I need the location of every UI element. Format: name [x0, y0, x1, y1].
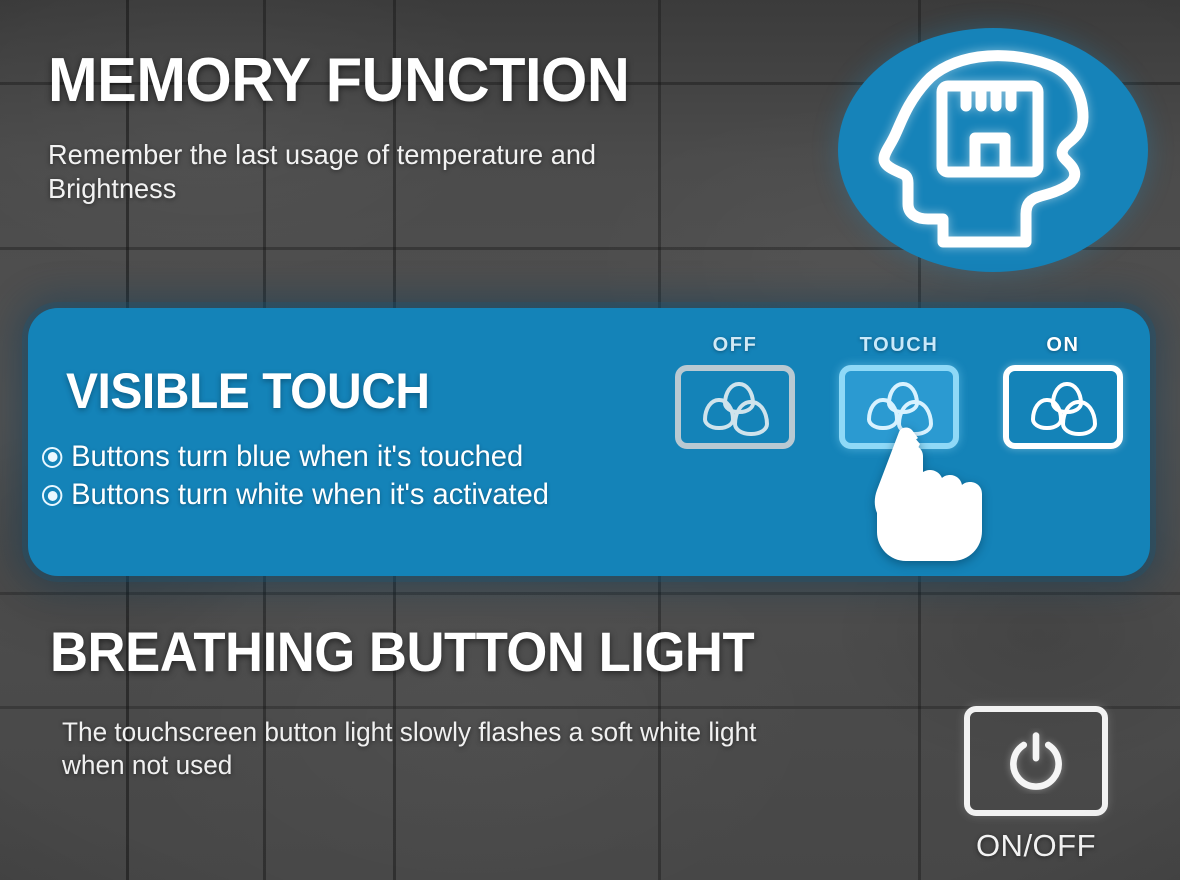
pointing-hand-cursor-icon	[868, 424, 1018, 574]
memory-function-title: MEMORY FUNCTION	[48, 50, 629, 112]
memory-description-text: Remember the last usage of temperature a…	[48, 139, 596, 204]
head-memory-icon	[838, 28, 1148, 272]
memory-function-description: Remember the last usage of temperature a…	[48, 138, 727, 206]
bullet-text: Buttons turn white when it's activated	[71, 476, 549, 514]
list-item: Buttons turn white when it's activated	[42, 476, 549, 514]
bullet-text: Buttons turn blue when it's touched	[71, 438, 523, 476]
visible-touch-bullet-list: Buttons turn blue when it's touched Butt…	[42, 438, 565, 515]
touch-button-on[interactable]	[1003, 365, 1123, 449]
drop-shape	[733, 400, 769, 436]
touch-state-label-off: OFF	[713, 334, 758, 357]
power-glyph-icon	[1003, 728, 1069, 794]
three-drops-icon	[700, 382, 770, 432]
power-onoff-label: ON/OFF	[976, 828, 1096, 864]
infographic-canvas: MEMORY FUNCTION Remember the last usage …	[0, 0, 1180, 880]
bullet-dot-icon	[42, 485, 62, 506]
touch-state-off[interactable]: OFF	[680, 334, 790, 449]
bullet-dot-icon	[42, 447, 62, 468]
power-button-block[interactable]: ON/OFF	[962, 706, 1110, 864]
breathing-button-light-description: The touchscreen button light slowly flas…	[62, 716, 780, 783]
visible-touch-title: VISIBLE TOUCH	[66, 366, 430, 416]
head-with-save-card-icon	[838, 28, 1148, 272]
power-icon[interactable]	[964, 706, 1108, 816]
touch-state-label-on: ON	[1046, 334, 1079, 357]
drop-shape	[1061, 400, 1097, 436]
touch-button-off[interactable]	[675, 365, 795, 449]
three-drops-icon	[1028, 382, 1098, 432]
list-item: Buttons turn blue when it's touched	[42, 438, 549, 476]
touch-state-label-touch: TOUCH	[860, 334, 939, 357]
touch-state-on[interactable]: ON	[1008, 334, 1118, 449]
breathing-button-light-title: BREATHING BUTTON LIGHT	[50, 624, 754, 680]
breathing-description-text: The touchscreen button light slowly flas…	[62, 717, 756, 780]
